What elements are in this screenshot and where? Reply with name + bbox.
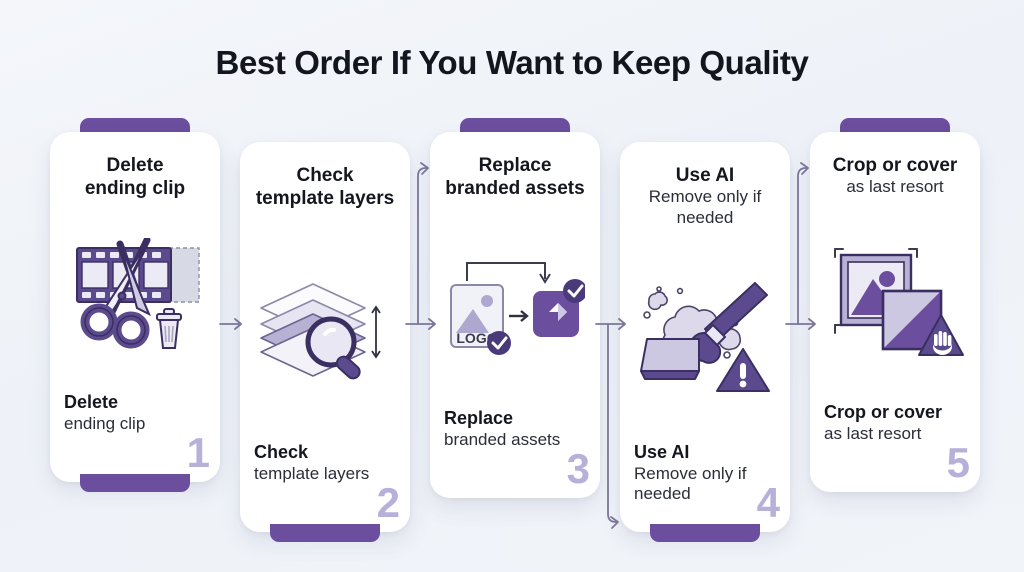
card-footer-3: Replace branded assets 3 bbox=[444, 408, 586, 482]
card-footer-bold-5: Crop or cover bbox=[824, 402, 944, 424]
layers-magnifier-icon bbox=[254, 214, 396, 442]
card-heading-4: Use AI Remove only if needed bbox=[634, 164, 776, 229]
step-card-1-slot: Delete ending clip bbox=[50, 118, 220, 528]
card-heading-1: Delete ending clip bbox=[64, 154, 206, 200]
step-card-2[interactable]: Check template layers bbox=[240, 142, 410, 532]
card-footer-5: Crop or cover as last resort 5 bbox=[824, 402, 966, 476]
card-number-1: 1 bbox=[187, 432, 210, 474]
card-heading-rest-4: Remove only if needed bbox=[634, 187, 776, 228]
card-heading-bold-4: Use AI bbox=[634, 164, 776, 187]
step-card-3[interactable]: Replace branded assets LOGO bbox=[430, 132, 600, 498]
step-card-3-slot: Replace branded assets LOGO bbox=[430, 118, 600, 528]
steps-strip: Delete ending clip bbox=[50, 118, 974, 528]
card-footer-rest-3: branded assets bbox=[444, 430, 564, 450]
card-footer-bold-2: Check bbox=[254, 442, 374, 464]
card-heading-rest-5: as last resort bbox=[824, 177, 966, 198]
card-footer-1: Delete ending clip 1 bbox=[64, 392, 206, 466]
step-card-5[interactable]: Crop or cover as last resort bbox=[810, 132, 980, 492]
card-heading-3: Replace branded assets bbox=[444, 154, 586, 200]
card-heading-bold-5: Crop or cover bbox=[824, 154, 966, 177]
card-footer-rest-4: Remove only if needed bbox=[634, 464, 754, 505]
step-card-1[interactable]: Delete ending clip bbox=[50, 132, 220, 482]
card-tab-bottom-2 bbox=[270, 524, 380, 542]
card-heading-2: Check template layers bbox=[254, 164, 396, 210]
card-heading-bold-3: Replace bbox=[444, 154, 586, 177]
card-heading-bold-1: Delete bbox=[64, 154, 206, 177]
card-footer-rest-1: ending clip bbox=[64, 414, 184, 434]
card-footer-2: Check template layers 2 bbox=[254, 442, 396, 516]
step-card-4-slot: Use AI Remove only if needed bbox=[620, 118, 790, 528]
card-heading-rest-1: ending clip bbox=[64, 177, 206, 200]
step-card-2-slot: Check template layers bbox=[240, 118, 410, 528]
filmstrip-scissors-trash-icon bbox=[64, 204, 206, 392]
card-heading-5: Crop or cover as last resort bbox=[824, 154, 966, 198]
card-heading-rest-3: branded assets bbox=[444, 177, 586, 200]
card-footer-bold-4: Use AI bbox=[634, 442, 754, 464]
card-number-2: 2 bbox=[377, 482, 400, 524]
card-footer-rest-2: template layers bbox=[254, 464, 374, 484]
card-footer-rest-5: as last resort bbox=[824, 424, 944, 444]
card-heading-bold-2: Check bbox=[254, 164, 396, 187]
ai-brush-warning-icon bbox=[634, 233, 776, 442]
logo-swap-check-icon: LOGO bbox=[444, 204, 586, 408]
page-title: Best Order If You Want to Keep Quality bbox=[0, 44, 1024, 82]
card-number-3: 3 bbox=[567, 448, 590, 490]
card-number-4: 4 bbox=[757, 482, 780, 524]
step-card-5-slot: Crop or cover as last resort bbox=[810, 118, 980, 528]
card-footer-bold-1: Delete bbox=[64, 392, 184, 414]
card-number-5: 5 bbox=[947, 442, 970, 484]
card-tab-bottom-1 bbox=[80, 474, 190, 492]
crop-cover-hand-icon bbox=[824, 202, 966, 402]
card-footer-4: Use AI Remove only if needed 4 bbox=[634, 442, 776, 516]
card-footer-bold-3: Replace bbox=[444, 408, 564, 430]
card-heading-rest-2: template layers bbox=[254, 187, 396, 210]
step-card-4[interactable]: Use AI Remove only if needed bbox=[620, 142, 790, 532]
card-tab-bottom-4 bbox=[650, 524, 760, 542]
